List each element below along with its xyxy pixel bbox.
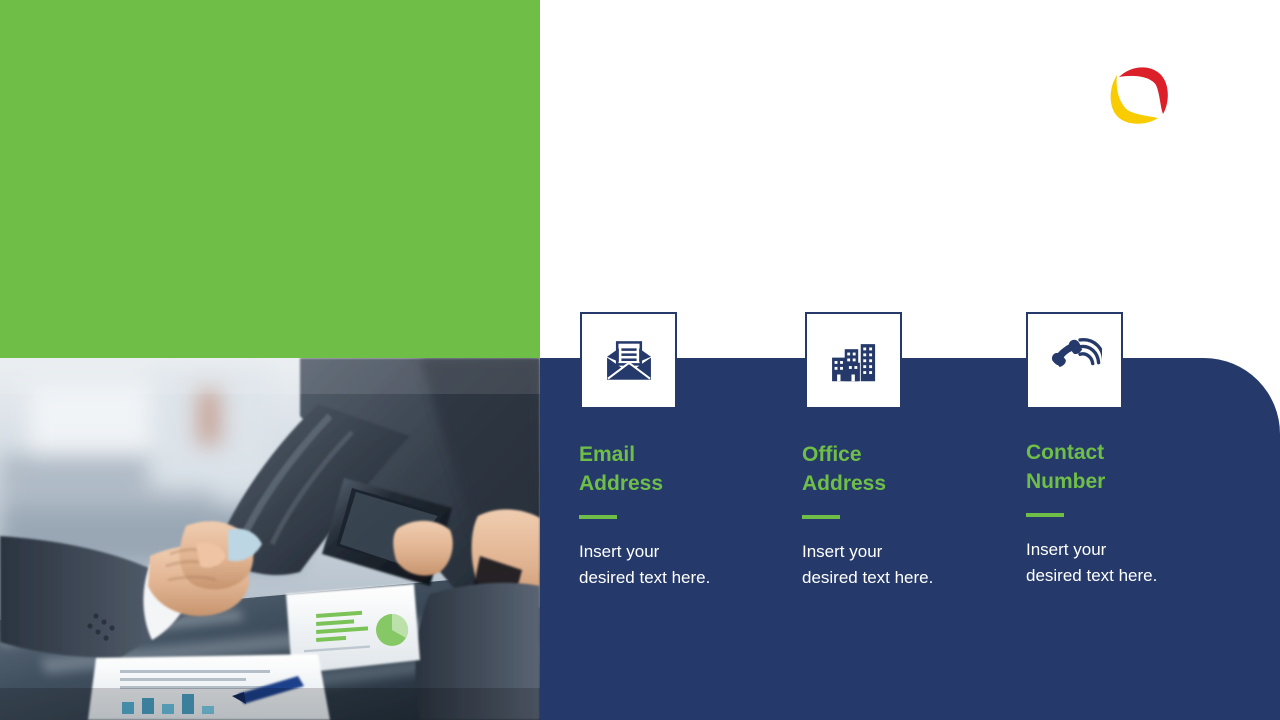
heading-divider xyxy=(1026,513,1064,517)
green-header-panel xyxy=(0,0,540,358)
contact-column-office: Office Address Insert your desired text … xyxy=(802,440,1017,591)
ringing-telephone-icon xyxy=(1048,334,1102,388)
envelope-letter-icon xyxy=(602,334,656,388)
contact-heading: Office Address xyxy=(802,440,1017,498)
phone-icon-card[interactable] xyxy=(1026,312,1123,409)
email-icon-card[interactable] xyxy=(580,312,677,409)
contact-body-text: Insert your desired text here. xyxy=(802,539,1017,591)
brand-logo-icon xyxy=(1106,62,1172,128)
heading-divider xyxy=(579,515,617,519)
contact-heading: Contact Number xyxy=(1026,438,1241,496)
office-buildings-icon xyxy=(827,334,881,388)
contact-column-email: Email Address Insert your desired text h… xyxy=(579,440,794,591)
brand-logo[interactable] xyxy=(1106,62,1172,128)
contact-column-number: Contact Number Insert your desired text … xyxy=(1026,438,1241,589)
handshake-photo-image xyxy=(0,358,540,720)
contact-us-slide: Contact Us Get in Touch Insert your desi… xyxy=(0,0,1280,720)
office-icon-card[interactable] xyxy=(805,312,902,409)
handshake-photo xyxy=(0,358,540,720)
contact-heading: Email Address xyxy=(579,440,794,498)
contact-body-text: Insert your desired text here. xyxy=(579,539,794,591)
heading-divider xyxy=(802,515,840,519)
contact-body-text: Insert your desired text here. xyxy=(1026,537,1241,589)
